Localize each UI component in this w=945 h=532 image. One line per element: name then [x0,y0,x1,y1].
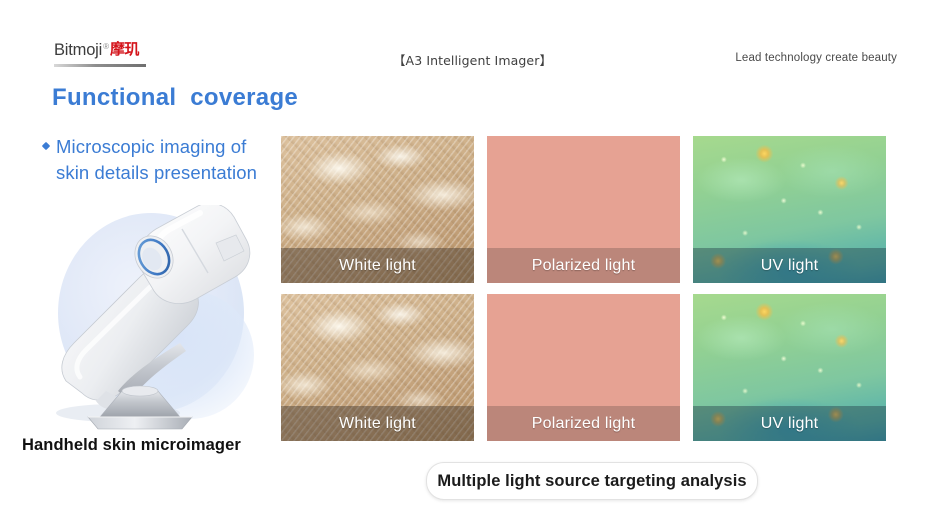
bullet-line-2: skin details presentation [56,160,257,186]
bullet-line-1: Microscopic imaging of [56,134,257,160]
handheld-scanner-icon [30,205,280,440]
tile-label: UV light [761,415,819,433]
tile-label: Polarized light [532,257,636,275]
imaging-modes-grid: White light Polarized light UV light Whi… [281,136,887,447]
imaging-tile[interactable]: Polarized light [487,136,680,283]
tile-label: White light [339,415,416,433]
tile-label: White light [339,257,416,275]
imaging-tile[interactable]: UV light [693,294,886,441]
tile-label-band: White light [281,248,474,283]
summary-banner-label: Multiple light source targeting analysis [437,472,746,491]
imaging-tile[interactable]: White light [281,294,474,441]
imaging-tile[interactable]: White light [281,136,474,283]
tile-label: UV light [761,257,819,275]
bullet-item: Microscopic imaging of skin details pres… [41,134,291,186]
tile-label-band: White light [281,406,474,441]
summary-banner: Multiple light source targeting analysis [426,462,758,500]
device-caption: Handheld skin microimager [22,436,241,455]
device-illustration [30,205,280,440]
imaging-tile[interactable]: UV light [693,136,886,283]
tile-label-band: UV light [693,406,886,441]
tile-label-band: UV light [693,248,886,283]
imaging-tile[interactable]: Polarized light [487,294,680,441]
tile-label: Polarized light [532,415,636,433]
slide-canvas: Bitmoji ® 摩玑 【A3 Intelligent Imager】 Lea… [0,0,945,532]
tile-label-band: Polarized light [487,406,680,441]
bullet-item-label: Microscopic imaging of skin details pres… [56,134,257,186]
header-tagline: Lead technology create beauty [735,52,897,64]
page-title: Functional coverage [52,84,298,112]
diamond-bullet-icon [41,141,52,152]
tile-label-band: Polarized light [487,248,680,283]
